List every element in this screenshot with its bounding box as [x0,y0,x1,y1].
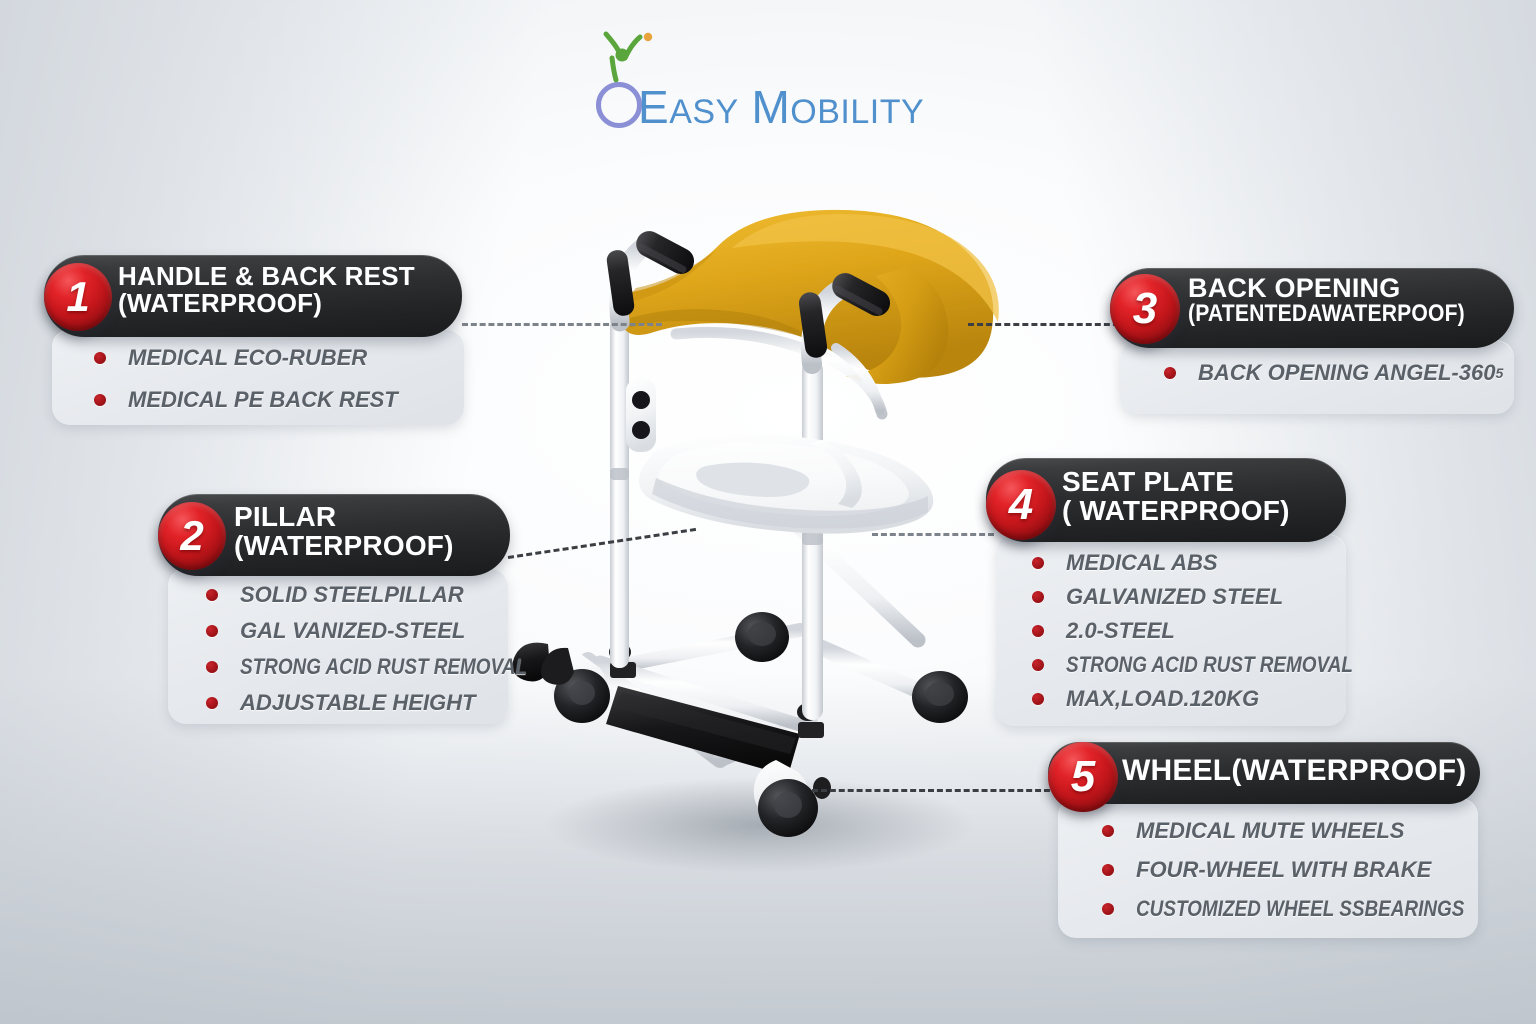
brand-logo: EASY MOBILITY [586,28,958,120]
callout-3-bullet-list: BACK OPENING ANGEL-360 5 [1164,360,1514,386]
bullet-dot-icon [1102,903,1114,915]
callout-5-badge: 5 [1048,742,1118,812]
list-item: ADJUSTABLE HEIGHT [206,690,508,716]
connector-line-3 [968,323,1128,326]
callout-2-badge: 2 [158,502,226,570]
list-item: BACK OPENING ANGEL-360 5 [1164,360,1514,386]
bullet-dot-icon [206,661,218,673]
list-item: GALVANIZED STEEL [1032,584,1346,610]
list-item: CUSTOMIZED WHEEL SSBEARINGS [1102,896,1478,922]
bullet-dot-icon [206,589,218,601]
bullet-dot-icon [1032,693,1044,705]
bullet-dot-icon [1102,864,1114,876]
caster-rear-right [912,671,968,723]
bullet-dot-icon [1164,367,1176,379]
list-item: 2.0-STEEL [1032,618,1346,644]
callout-4-title: SEAT PLATE ( WATERPROOF) [1062,467,1332,525]
callout-2-bullet-list: SOLID STEELPILLAR GAL VANIZED-STEEL STRO… [206,582,508,716]
callout-5[interactable]: WHEEL(WATERPROOF) MEDICAL MUTE WHEELS FO… [1048,742,1480,804]
connector-line-1 [462,323,662,326]
callout-1-title: HANDLE & BACK REST (WATERPROOF) [118,263,446,317]
bullet-dot-icon [206,697,218,709]
callout-1-bullet-list: MEDICAL ECO-RUBER MEDICAL PE BACK REST [94,345,464,413]
callout-4[interactable]: SEAT PLATE ( WATERPROOF) MEDICAL ABS GAL… [986,458,1346,542]
callout-4-bullet-list: MEDICAL ABS GALVANIZED STEEL 2.0-STEEL S… [1032,550,1346,712]
callout-2-body: SOLID STEELPILLAR GAL VANIZED-STEEL STRO… [168,568,508,724]
bullet-dot-icon [1032,625,1044,637]
list-item: GAL VANIZED-STEEL [206,618,508,644]
list-item: MEDICAL ECO-RUBER [94,345,464,371]
brand-initial-e: E [638,81,669,133]
pillar-control-box [626,378,656,452]
callout-3-body: BACK OPENING ANGEL-360 5 [1120,340,1514,414]
callout-1-badge: 1 [44,263,112,331]
list-item: MEDICAL ABS [1032,550,1346,576]
callout-3[interactable]: BACK OPENING (PATENTEDAWATERPOOF) BACK O… [1110,268,1514,348]
connector-line-4 [872,533,994,536]
callout-4-badge: 4 [986,470,1056,540]
callout-3-badge: 3 [1110,274,1180,344]
bullet-dot-icon [94,394,106,406]
connector-line-5 [812,789,1050,792]
infographic-canvas: EASY MOBILITY [0,0,1536,1024]
bullet-dot-icon [1032,591,1044,603]
list-item: FOUR-WHEEL WITH BRAKE [1102,857,1478,883]
callout-5-bullet-list: MEDICAL MUTE WHEELS FOUR-WHEEL WITH BRAK… [1102,818,1478,922]
seat-plate [639,434,933,534]
bullet-dot-icon [94,352,106,364]
callout-4-body: MEDICAL ABS GALVANIZED STEEL 2.0-STEEL S… [996,534,1346,726]
callout-2[interactable]: PILLAR (WATERPROOF) SOLID STEELPILLAR GA… [158,494,510,576]
list-item: MEDICAL PE BACK REST [94,387,464,413]
list-item: STRONG ACID RUST REMOVAL [1032,652,1346,678]
callout-3-superscript: 5 [1495,365,1503,381]
bullet-dot-icon [206,625,218,637]
brand-initial-m: M [751,81,790,133]
callout-1[interactable]: HANDLE & BACK REST (WATERPROOF) MEDICAL … [44,255,462,337]
brand-name: EASY MOBILITY [638,80,924,134]
list-item: SOLID STEELPILLAR [206,582,508,608]
brand-easy-rest: ASY [669,93,739,131]
callout-2-title: PILLAR (WATERPROOF) [234,502,494,560]
product-illustration [470,200,1030,880]
callout-5-title: WHEEL(WATERPROOF) [1122,755,1466,786]
list-item: STRONG ACID RUST REMOVAL [206,654,508,680]
bullet-dot-icon [1032,659,1044,671]
brand-mobility-rest: OBILITY [790,93,924,131]
bullet-dot-icon [1102,825,1114,837]
bullet-dot-icon [1032,557,1044,569]
callout-5-body: MEDICAL MUTE WHEELS FOUR-WHEEL WITH BRAK… [1058,798,1478,938]
wheel-circle-icon [596,82,642,128]
callout-1-body: MEDICAL ECO-RUBER MEDICAL PE BACK REST [52,329,464,425]
list-item: MAX,LOAD.120KG [1032,686,1346,712]
caster-rear-left [735,612,789,662]
list-item: MEDICAL MUTE WHEELS [1102,818,1478,844]
callout-3-title: BACK OPENING (PATENTEDAWATERPOOF) [1188,274,1504,327]
